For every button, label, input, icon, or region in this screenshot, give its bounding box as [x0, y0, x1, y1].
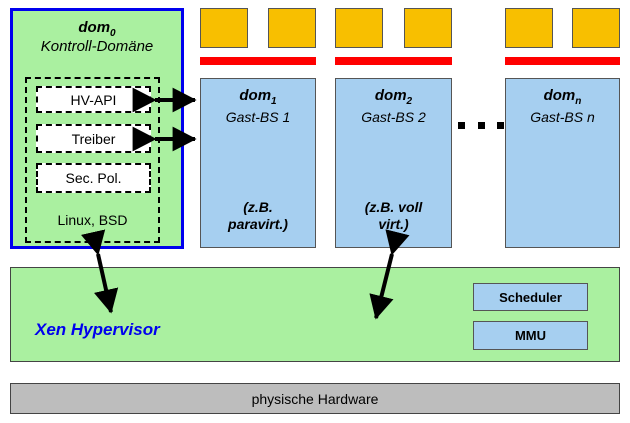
guest-domain-domn-name: dom: [544, 87, 576, 104]
app-box-dom1-a: [200, 8, 248, 48]
guest-domain-domn-os: Gast-BS n: [506, 109, 619, 125]
red-bar-domn: [505, 57, 620, 65]
control-domain-title: dom0: [13, 19, 181, 40]
guest-domain-dom2-name: dom: [375, 87, 407, 104]
guest-domain-dom2-os: Gast-BS 2: [336, 109, 451, 125]
physical-hardware-label: physische Hardware: [252, 391, 379, 407]
guest-domain-dom1: dom1 Gast-BS 1 (z.B. paravirt.): [200, 78, 316, 248]
app-box-dom1-b: [268, 8, 316, 48]
hypervisor-label: Xen Hypervisor: [35, 320, 160, 340]
guest-domain-dom2-note-line2: virt.): [336, 216, 451, 233]
guest-domain-dom1-note: (z.B. paravirt.): [201, 199, 315, 233]
module-sec-pol: Sec. Pol.: [36, 163, 151, 193]
ellipsis-dot-2: [478, 122, 485, 129]
hypervisor-component-scheduler-label: Scheduler: [499, 290, 562, 305]
red-bar-dom2: [335, 57, 452, 65]
ellipsis-indicator: [458, 114, 504, 136]
app-box-dom2-b: [404, 8, 452, 48]
guest-domain-dom1-title: dom1: [201, 87, 315, 108]
app-box-domn-a: [505, 8, 553, 48]
app-box-domn-b: [572, 8, 620, 48]
guest-domain-dom1-note-line1: (z.B.: [201, 199, 315, 216]
physical-hardware-bar: physische Hardware: [10, 383, 620, 414]
xen-architecture-diagram: dom0 Kontroll-Domäne HV-API Treiber Sec.…: [0, 0, 630, 423]
hypervisor-component-scheduler: Scheduler: [473, 283, 588, 311]
app-box-dom2-a: [335, 8, 383, 48]
guest-domain-dom2: dom2 Gast-BS 2 (z.B. voll virt.): [335, 78, 452, 248]
guest-domain-dom1-name: dom: [239, 87, 271, 104]
guest-domain-dom2-index: 2: [407, 96, 413, 107]
guest-domain-dom2-title: dom2: [336, 87, 451, 108]
guest-domain-dom2-note: (z.B. voll virt.): [336, 199, 451, 233]
control-domain-name: dom: [78, 19, 110, 36]
hypervisor-component-mmu: MMU: [473, 321, 588, 350]
module-treiber: Treiber: [36, 124, 151, 153]
guest-domain-dom1-os: Gast-BS 1: [201, 109, 315, 125]
guest-domain-domn: domn Gast-BS n: [505, 78, 620, 248]
module-hv-api: HV-API: [36, 86, 151, 113]
ellipsis-dot-1: [458, 122, 465, 129]
guest-domain-dom2-note-line1: (z.B. voll: [336, 199, 451, 216]
guest-domain-domn-title: domn: [506, 87, 619, 108]
module-treiber-label: Treiber: [72, 131, 116, 147]
ellipsis-dot-3: [497, 122, 504, 129]
hypervisor-component-mmu-label: MMU: [515, 328, 546, 343]
guest-domain-dom1-index: 1: [271, 96, 277, 107]
guest-domain-domn-index: n: [575, 96, 581, 107]
module-hv-api-label: HV-API: [71, 92, 117, 108]
red-bar-dom1: [200, 57, 316, 65]
module-sec-pol-label: Sec. Pol.: [65, 170, 121, 186]
control-domain-os-label: Linux, BSD: [25, 207, 160, 233]
control-domain-subtitle: Kontroll-Domäne: [13, 38, 181, 55]
guest-domain-dom1-note-line2: paravirt.): [201, 216, 315, 233]
